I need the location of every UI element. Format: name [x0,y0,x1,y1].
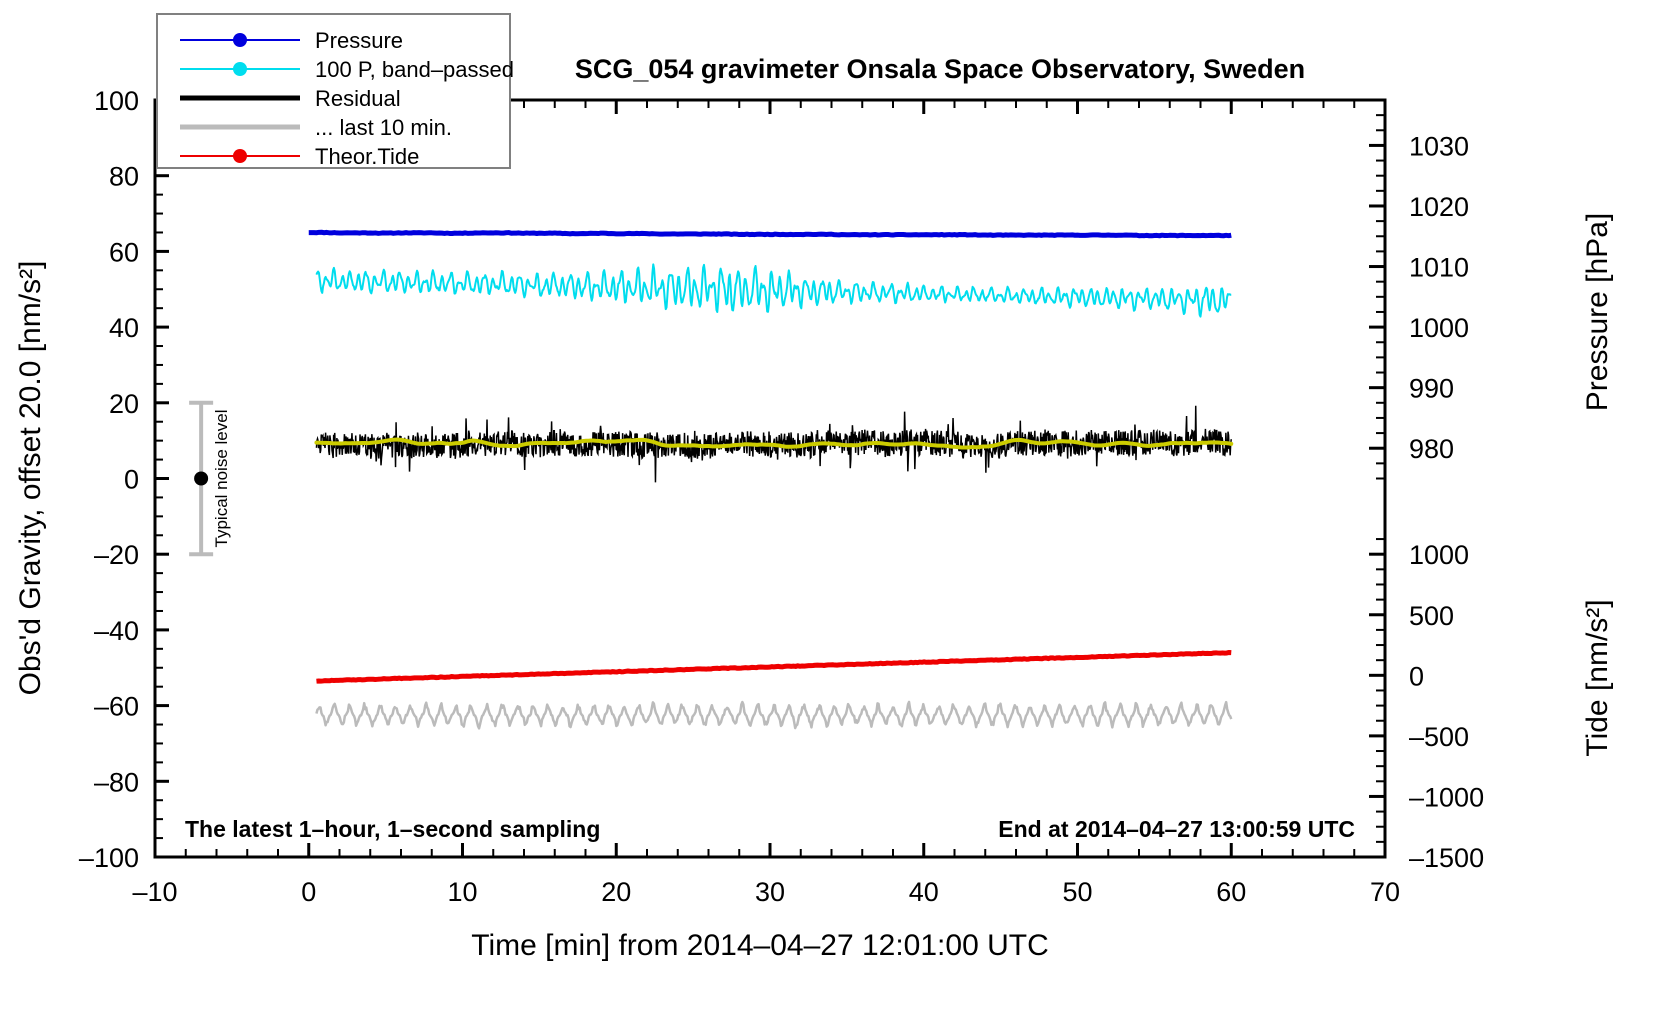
x-axis-tick-label: 60 [1216,877,1246,907]
x-axis-tick-label: 20 [601,877,631,907]
legend-marker-dot [233,33,247,47]
legend-entry-label: 100 P, band–passed [315,57,514,82]
tide-axis-tick-label: –1000 [1409,782,1484,812]
end-time-note: End at 2014–04–27 13:00:59 UTC [998,816,1355,842]
y-axis-tick-label: 20 [109,389,139,419]
y-axis-tick-label: 40 [109,313,139,343]
x-axis-tick-label: 10 [447,877,477,907]
pressure-axis-tick-label: 990 [1409,374,1454,404]
y-axis-tick-label: 60 [109,237,139,267]
x-axis-tick-label: 40 [909,877,939,907]
y-axis-tick-label: 0 [124,465,139,495]
legend-entry-label: ... last 10 min. [315,115,452,140]
gravimeter-timeseries-chart: SCG_054 gravimeter Onsala Space Observat… [0,0,1660,1020]
y-axis-tick-label: –40 [94,616,139,646]
pressure-axis-tick-label: 1010 [1409,253,1469,283]
y-axis-tick-label: –20 [94,540,139,570]
y-axis-tick-label: –100 [79,843,139,873]
tide-axis-tick-label: –1500 [1409,843,1484,873]
sampling-note: The latest 1–hour, 1–second sampling [185,816,600,842]
y-axis-title-tide: Tide [nm/s²] [1581,599,1614,756]
chart-page: SCG_054 gravimeter Onsala Space Observat… [0,0,1660,1020]
legend-marker-dot [233,149,247,163]
y-axis-title-pressure: Pressure [hPa] [1581,213,1614,411]
pressure-axis-tick-label: 1030 [1409,131,1469,161]
x-axis-tick-label: 30 [755,877,785,907]
x-axis-title: Time [min] from 2014–04–27 12:01:00 UTC [471,929,1049,962]
legend-entry-label: Residual [315,86,401,111]
y-axis-tick-label: 80 [109,162,139,192]
legend-entry-label: Theor.Tide [315,144,419,169]
x-axis-tick-label: 0 [301,877,316,907]
chart-title: SCG_054 gravimeter Onsala Space Observat… [575,54,1305,84]
y-axis-tick-label: –60 [94,692,139,722]
pressure-axis-tick-label: 1000 [1409,313,1469,343]
pressure-trace [309,232,1232,236]
legend-entry-label: Pressure [315,28,403,53]
x-axis-tick-label: 50 [1062,877,1092,907]
tide-axis-tick-label: 500 [1409,601,1454,631]
pressure-axis-tick-label: 1020 [1409,192,1469,222]
noise-bar-center-dot [194,472,208,486]
legend-marker-dot [233,62,247,76]
pressure-axis-tick-label: 980 [1409,434,1454,464]
x-axis-tick-label: –10 [132,877,177,907]
tide-axis-tick-label: 1000 [1409,540,1469,570]
tide-axis-tick-label: –500 [1409,722,1469,752]
chart-legend: Pressure100 P, band–passedResidual... la… [157,14,514,169]
tide-axis-tick-label: 0 [1409,661,1424,691]
x-axis-tick-label: 70 [1370,877,1400,907]
y-axis-tick-label: –80 [94,767,139,797]
y-axis-title-left: Obs'd Gravity, offset 20.0 [nm/s²] [14,261,47,696]
y-axis-tick-label: 100 [94,86,139,116]
noise-bar-label: Typical noise level [212,410,231,548]
